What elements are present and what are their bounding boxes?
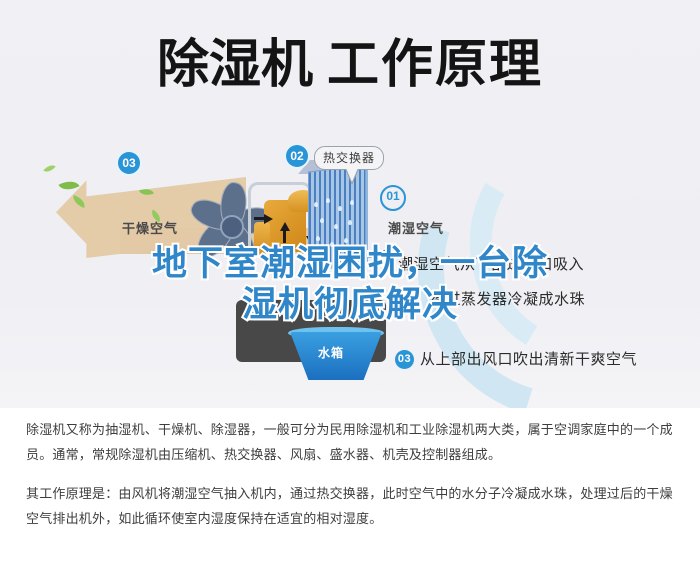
water-droplet-icon xyxy=(316,236,320,241)
water-droplet-icon xyxy=(314,202,318,207)
water-droplet-icon xyxy=(334,224,338,229)
step-line-three: 03从上部出风口吹出清新干爽空气 xyxy=(395,348,637,369)
water-droplet-icon xyxy=(330,242,334,247)
water-droplet-icon xyxy=(350,200,354,205)
step-three-text: 从上部出风口吹出清新干爽空气 xyxy=(420,351,637,368)
water-droplet-icon xyxy=(320,218,324,223)
title-part-two: 工作原理 xyxy=(327,35,543,95)
intake-airflow-arrow-icon xyxy=(352,247,400,260)
humid-air-label: 潮湿空气 xyxy=(388,218,444,237)
fan-hub xyxy=(220,215,244,239)
water-droplet-icon xyxy=(338,206,342,211)
hero-infographic: 除湿机工作原理 干燥空气 03 xyxy=(0,0,700,408)
step-line-one: 潮湿空气从下部进风口吸入 xyxy=(398,253,584,274)
step-one-text: 潮湿空气从下部进风口吸入 xyxy=(398,256,584,273)
step-line-two: 经过蒸发器冷凝成水珠 xyxy=(430,288,585,309)
arrow-head xyxy=(352,247,365,261)
water-droplet-icon xyxy=(348,220,352,225)
dry-air-label: 干燥空气 xyxy=(122,218,178,237)
badge-step-one: 01 xyxy=(380,185,406,211)
flow-arrow-stem xyxy=(283,231,286,243)
heat-exchanger-callout: 热交换器 xyxy=(314,146,384,170)
title-part-one: 除湿机 xyxy=(157,35,313,95)
badge-step-three: 03 xyxy=(118,152,140,174)
page-title: 除湿机工作原理 xyxy=(0,34,700,96)
article-body: 除湿机又称为抽湿机、干燥机、除湿器，一般可分为民用除湿机和工业除湿机两大类，属于… xyxy=(26,418,676,532)
page-root: 除湿机工作原理 干燥空气 03 xyxy=(0,0,700,566)
paragraph-principle: 其工作原理是：由风机将潮湿空气抽入机内，通过热交换器，此时空气中的水分子冷凝成水… xyxy=(26,482,676,532)
badge-step-two: 02 xyxy=(286,145,308,167)
flow-arrow-stem xyxy=(254,217,266,220)
water-tank-label: 水箱 xyxy=(318,344,344,361)
water-droplet-icon xyxy=(344,238,348,243)
arrow-stem xyxy=(364,250,400,258)
copper-coil xyxy=(254,222,270,256)
paragraph-definition: 除湿机又称为抽湿机、干燥机、除湿器，一般可分为民用除湿机和工业除湿机两大类，属于… xyxy=(26,418,676,468)
water-droplet-icon xyxy=(326,198,330,203)
step-three-badge: 03 xyxy=(395,350,414,369)
step-two-text: 经过蒸发器冷凝成水珠 xyxy=(430,291,585,308)
flow-arrow-up-icon xyxy=(280,222,290,231)
